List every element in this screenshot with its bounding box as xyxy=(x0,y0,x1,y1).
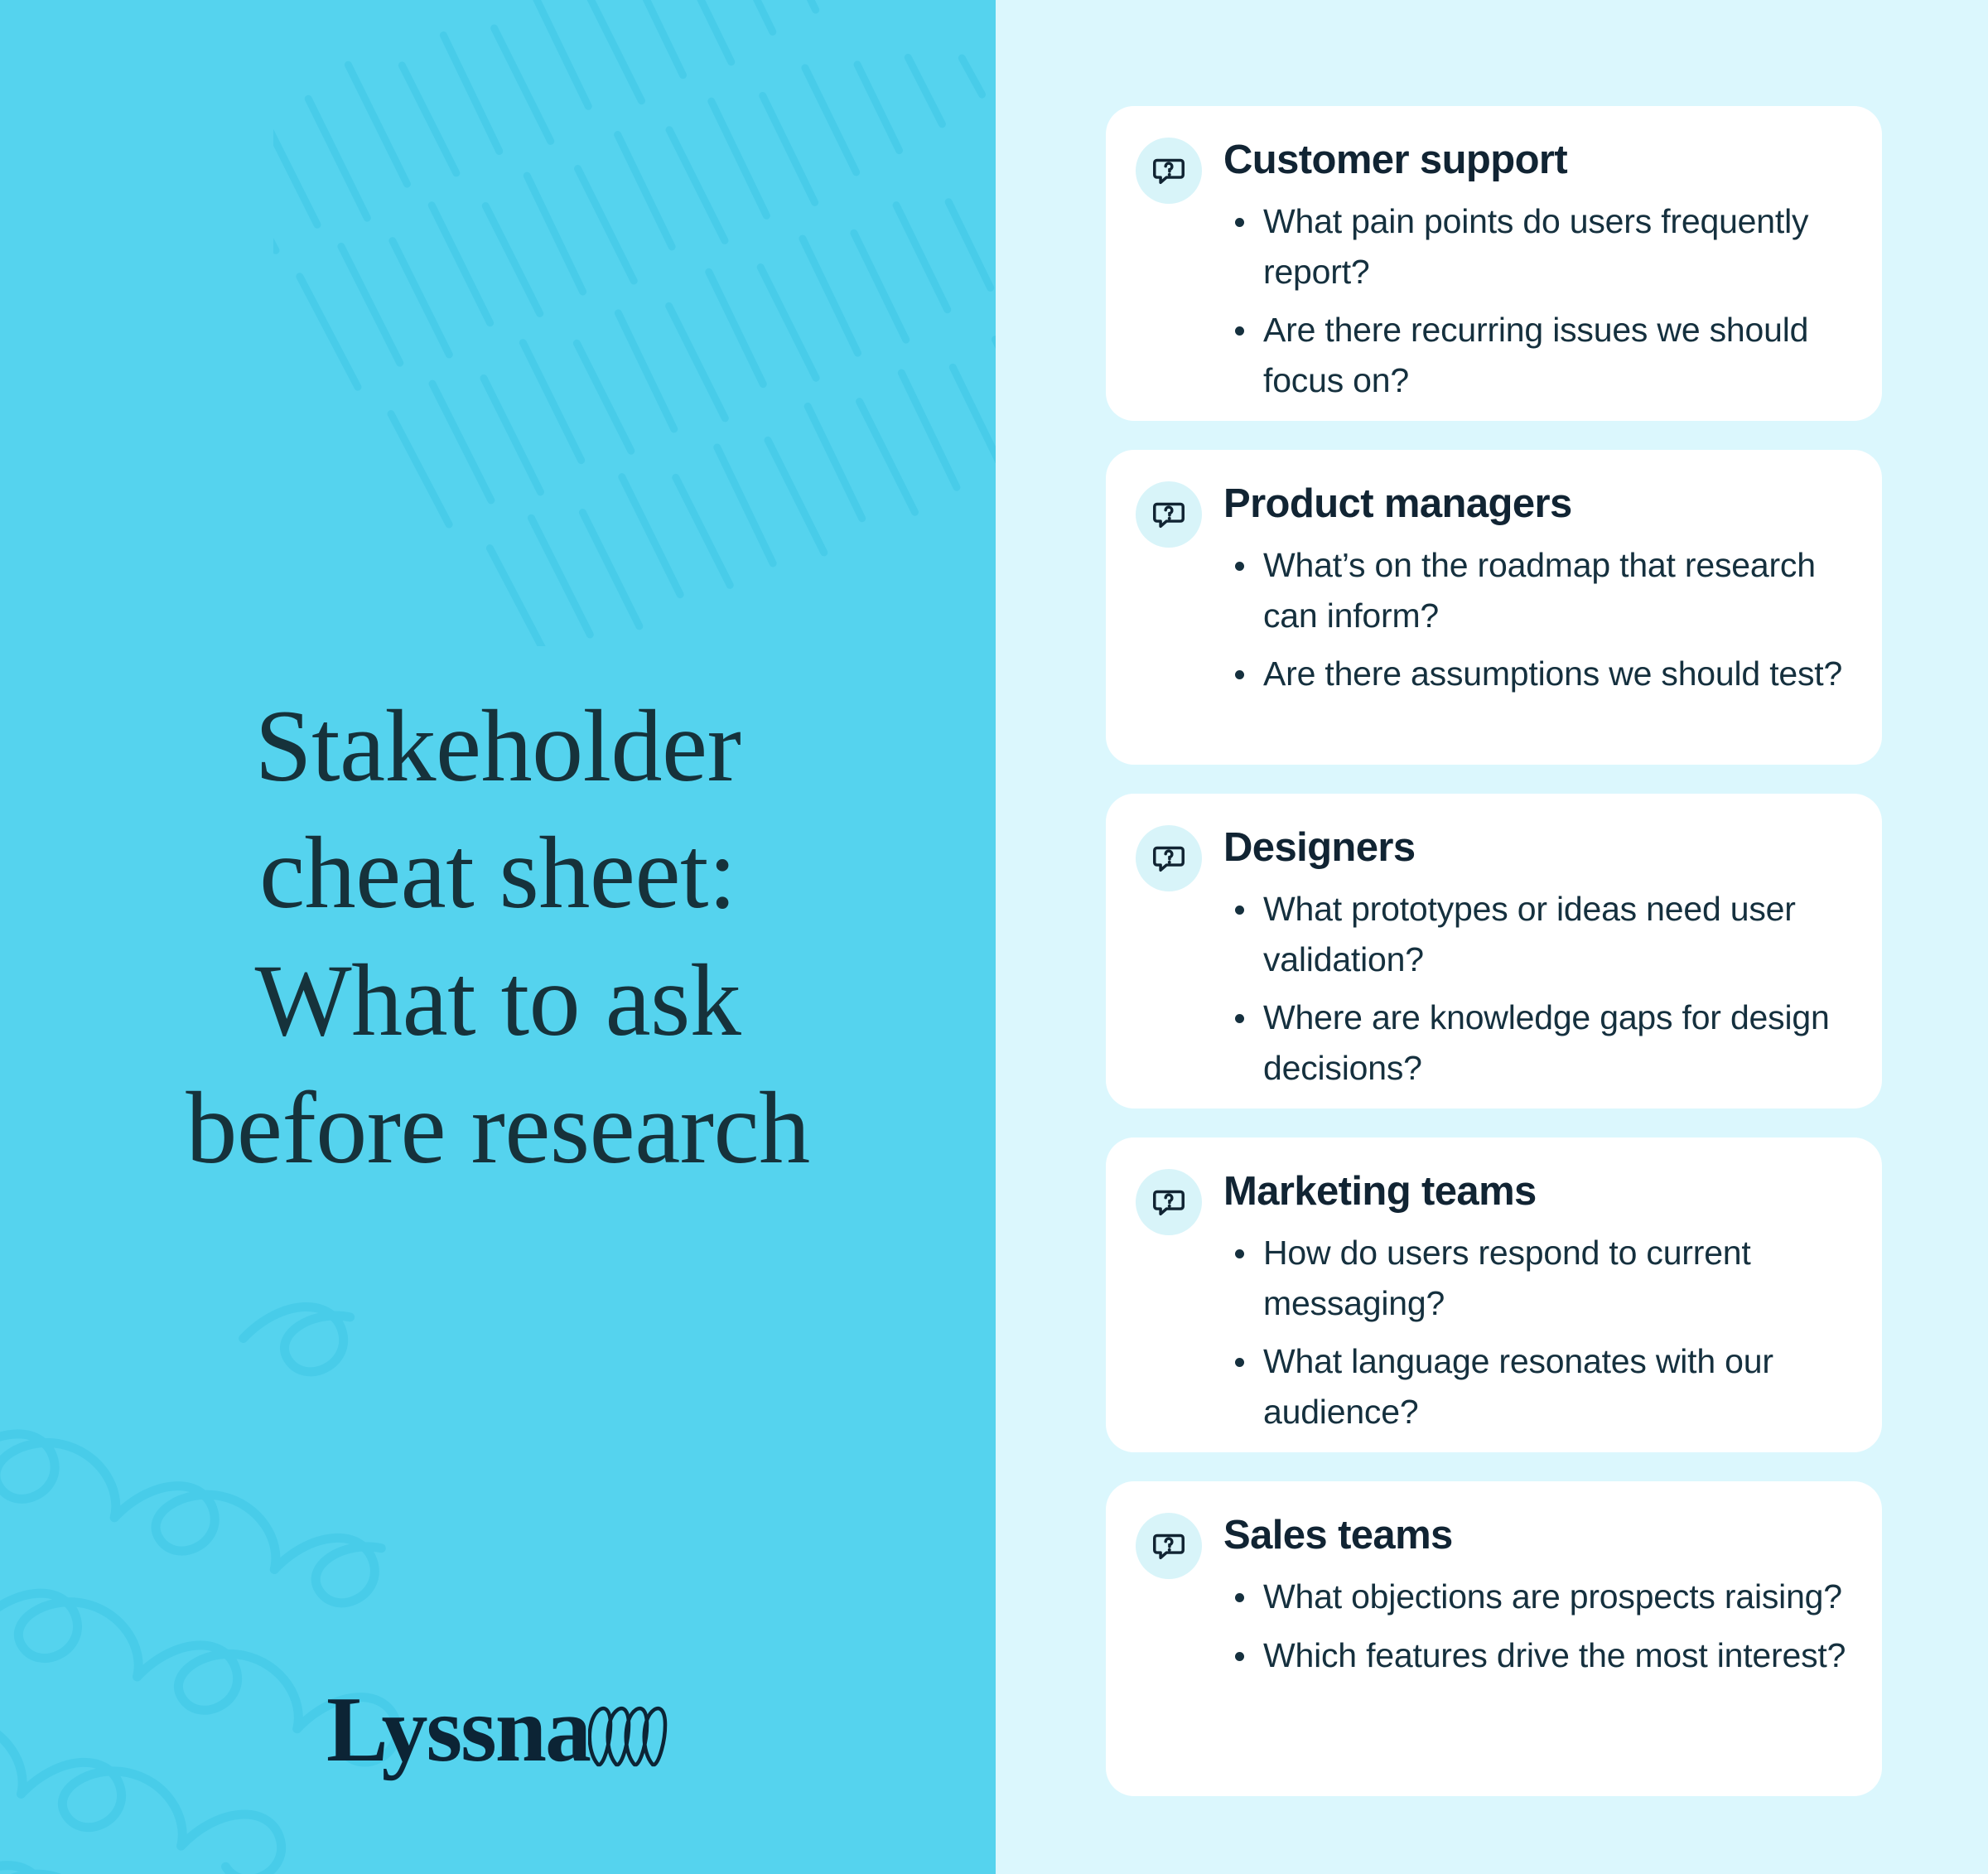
question-list: What pain points do users frequently rep… xyxy=(1223,196,1849,406)
page-title: Stakeholder cheat sheet: What to ask bef… xyxy=(186,683,809,1192)
stakeholder-cards-panel: Customer support What pain points do use… xyxy=(996,0,1988,1874)
infographic-poster: Stakeholder cheat sheet: What to ask bef… xyxy=(0,0,1988,1874)
question-list: What objections are prospects raising? W… xyxy=(1223,1572,1849,1680)
question-list: What’s on the roadmap that research can … xyxy=(1223,540,1849,699)
question-list: What prototypes or ideas need user valid… xyxy=(1223,884,1849,1094)
list-item: What prototypes or ideas need user valid… xyxy=(1223,884,1849,984)
page-title-line-2: cheat sheet: xyxy=(259,816,736,930)
list-item: What objections are prospects raising? xyxy=(1223,1572,1849,1622)
list-item: Are there recurring issues we should foc… xyxy=(1223,305,1849,405)
page-title-line-3: What to ask xyxy=(255,944,741,1057)
question-speech-bubble-icon xyxy=(1136,1513,1202,1579)
brand-logo: Lyssna xyxy=(326,1683,669,1776)
card-title: Marketing teams xyxy=(1223,1169,1849,1215)
list-item: What’s on the roadmap that research can … xyxy=(1223,540,1849,640)
card-title: Designers xyxy=(1223,825,1849,871)
stakeholder-card-designers: Designers What prototypes or ideas need … xyxy=(1106,794,1882,1108)
stakeholder-card-marketing-teams: Marketing teams How do users respond to … xyxy=(1106,1137,1882,1452)
card-title: Sales teams xyxy=(1223,1513,1849,1558)
question-speech-bubble-icon xyxy=(1136,138,1202,204)
question-speech-bubble-icon xyxy=(1136,1169,1202,1235)
question-speech-bubble-icon xyxy=(1136,825,1202,891)
squiggle-loops-icon xyxy=(588,1703,669,1770)
list-item: What pain points do users frequently rep… xyxy=(1223,196,1849,297)
question-speech-bubble-icon xyxy=(1136,481,1202,548)
card-title: Customer support xyxy=(1223,138,1849,183)
list-item: How do users respond to current messagin… xyxy=(1223,1228,1849,1328)
stakeholder-card-product-managers: Product managers What’s on the roadmap t… xyxy=(1106,450,1882,765)
page-title-line-4: before research xyxy=(186,1071,809,1185)
stakeholder-card-customer-support: Customer support What pain points do use… xyxy=(1106,106,1882,421)
list-item: Which features drive the most interest? xyxy=(1223,1630,1849,1681)
list-item: What language resonates with our audienc… xyxy=(1223,1336,1849,1437)
card-title: Product managers xyxy=(1223,481,1849,527)
list-item: Where are knowledge gaps for design deci… xyxy=(1223,993,1849,1093)
title-panel: Stakeholder cheat sheet: What to ask bef… xyxy=(0,0,996,1874)
brand-wordmark: Lyssna xyxy=(326,1683,590,1776)
stakeholder-card-sales-teams: Sales teams What objections are prospect… xyxy=(1106,1481,1882,1796)
question-list: How do users respond to current messagin… xyxy=(1223,1228,1849,1437)
list-item: Are there assumptions we should test? xyxy=(1223,649,1849,699)
page-title-line-1: Stakeholder xyxy=(255,689,741,803)
